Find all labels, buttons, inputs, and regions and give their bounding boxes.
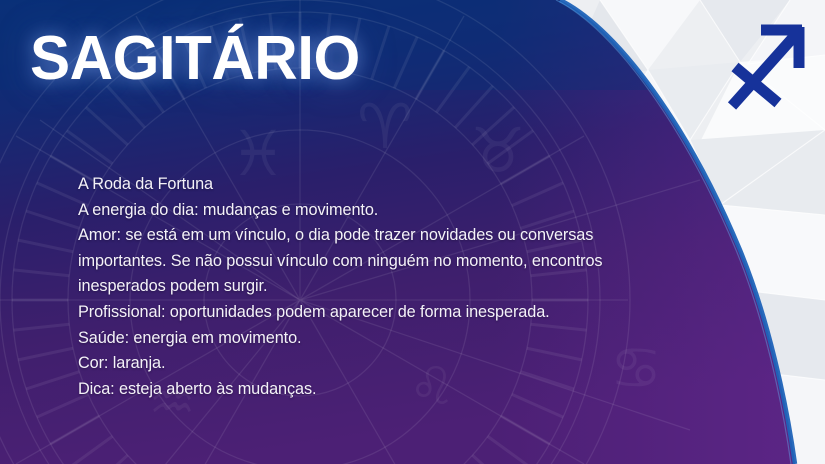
sagittarius-arrow-icon (728, 18, 810, 110)
horoscope-line: Saúde: energia em movimento. (78, 326, 698, 352)
page-title: SAGITÁRIO (30, 28, 360, 90)
horoscope-line: Profissional: oportunidades podem aparec… (78, 300, 698, 326)
horoscope-line: Cor: laranja. (78, 351, 698, 377)
horoscope-text: A Roda da Fortuna A energia do dia: muda… (78, 172, 698, 402)
horoscope-line: A Roda da Fortuna (78, 172, 698, 198)
horoscope-line: Amor: se está em um vínculo, o dia pode … (78, 223, 698, 249)
horoscope-line: inesperados podem surgir. (78, 274, 698, 300)
horoscope-line: importantes. Se não possui vínculo com n… (78, 249, 698, 275)
horoscope-line: Dica: esteja aberto às mudanças. (78, 377, 698, 403)
horoscope-card: ♓ ♈ ♉ ♋ ♌ ♒ SAGITÁRIO A Roda da Fortuna … (0, 0, 825, 464)
horoscope-line: A energia do dia: mudanças e movimento. (78, 198, 698, 224)
